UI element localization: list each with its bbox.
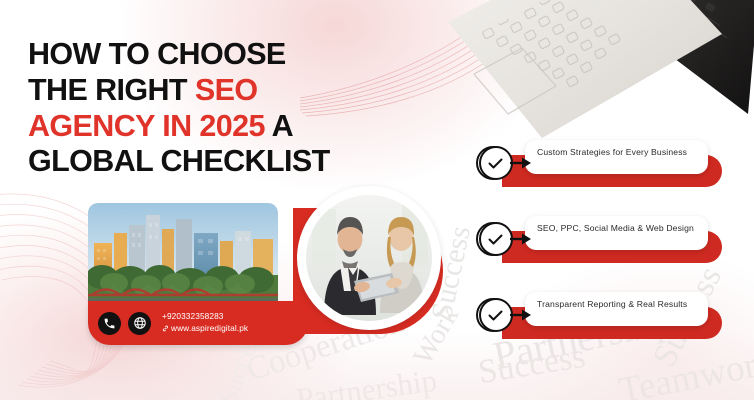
laptop-keyboard-photo <box>430 0 754 157</box>
globe-icon[interactable] <box>128 312 151 335</box>
check-circle-icon[interactable] <box>476 220 514 258</box>
link-icon <box>162 325 169 332</box>
page-title: HOW TO CHOOSE THE RIGHT SEO AGENCY IN 20… <box>28 37 458 180</box>
cityscape-skyline-photo <box>88 203 278 307</box>
contact-details: +920332358283 www.aspiredigital.pk <box>162 311 248 335</box>
headline-line-3-plain: A <box>265 109 293 143</box>
arrow-right-icon <box>510 233 532 245</box>
checklist-item-3[interactable]: Transparent Reporting & Real Results <box>476 288 746 350</box>
headline-line-3: AGENCY IN 2025 A <box>28 109 458 145</box>
check-circle-icon[interactable] <box>476 296 514 334</box>
seo-agency-promo-banner: Cooperation Partnership Success Work Suc… <box>0 0 754 400</box>
headline-line-2: THE RIGHT SEO <box>28 73 458 109</box>
arrow-right-icon <box>510 309 532 321</box>
headline-line-4: GLOBAL CHECKLIST <box>28 144 458 180</box>
checklist-item-1[interactable]: Custom Strategies for Every Business <box>476 136 746 198</box>
phone-icon[interactable] <box>98 312 121 335</box>
headline-line-2-plain: THE RIGHT <box>28 73 195 107</box>
contact-bar[interactable]: +920332358283 www.aspiredigital.pk <box>88 301 308 345</box>
checklist: Custom Strategies for Every Business SEO… <box>476 136 746 364</box>
checklist-card-2: SEO, PPC, Social Media & Web Design <box>525 216 708 250</box>
arrow-right-icon <box>510 157 532 169</box>
watermark-partnership-2: Partnership <box>295 364 439 400</box>
website-row[interactable]: www.aspiredigital.pk <box>162 323 248 335</box>
phone-number: +920332358283 <box>162 311 224 323</box>
phone-number-row[interactable]: +920332358283 <box>162 311 248 323</box>
checklist-item-2[interactable]: SEO, PPC, Social Media & Web Design <box>476 212 746 274</box>
check-circle-icon[interactable] <box>476 144 514 182</box>
checklist-card-1: Custom Strategies for Every Business <box>525 140 708 174</box>
checklist-card-3: Transparent Reporting & Real Results <box>525 292 708 326</box>
headline-line-1: HOW TO CHOOSE <box>28 37 458 73</box>
headline-seo-accent: SEO <box>195 73 258 107</box>
headline-agency-accent: AGENCY IN 2025 <box>28 109 265 143</box>
business-people-tablet-photo <box>306 195 432 321</box>
website-url: www.aspiredigital.pk <box>171 323 248 335</box>
business-people-photo-group <box>285 186 445 346</box>
